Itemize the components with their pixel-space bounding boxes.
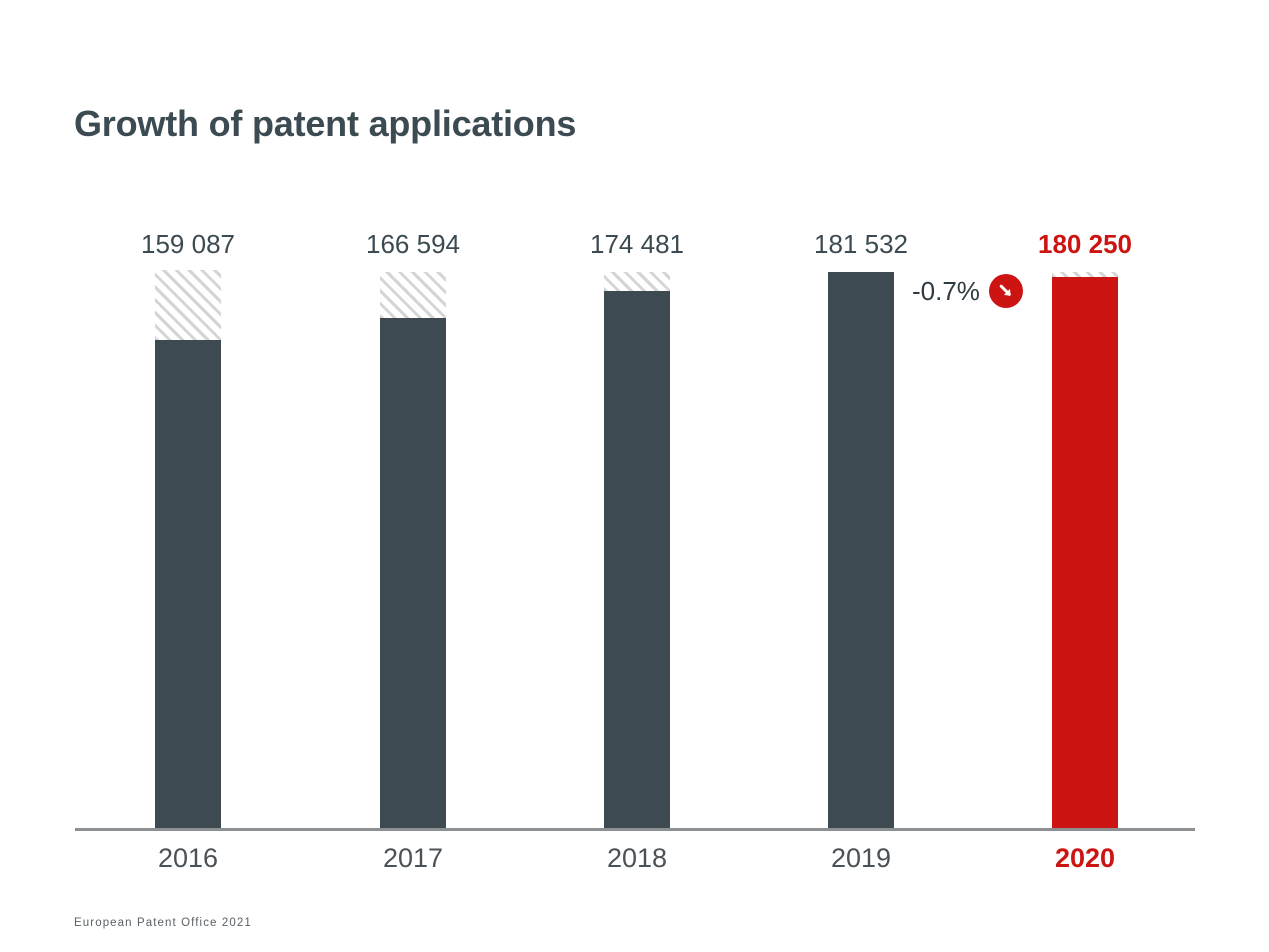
x-axis-label-2020: 2020: [975, 843, 1195, 874]
change-annotation: -0.7%: [912, 274, 1023, 308]
bar-group-2017[interactable]: [380, 0, 446, 952]
bar-solid-2016[interactable]: [155, 340, 221, 829]
bar-hatch-2018: [604, 272, 670, 291]
bar-value-label-2019: 181 532: [751, 229, 971, 260]
bar-chart-plot-area: 159 087 2016 166 594 2017 174 481 2018 1…: [0, 0, 1269, 952]
arrow-down-right-icon: [989, 274, 1023, 308]
bar-group-2016[interactable]: [155, 0, 221, 952]
bar-group-2020[interactable]: [1052, 0, 1118, 952]
bar-solid-2020[interactable]: [1052, 277, 1118, 829]
x-axis-line: [75, 828, 1195, 831]
bar-solid-2018[interactable]: [604, 291, 670, 829]
bar-solid-2017[interactable]: [380, 318, 446, 829]
bar-value-label-2016: 159 087: [78, 229, 298, 260]
x-axis-label-2019: 2019: [751, 843, 971, 874]
bar-group-2018[interactable]: [604, 0, 670, 952]
bar-value-label-2018: 174 481: [527, 229, 747, 260]
bar-hatch-2016: [155, 270, 221, 340]
change-percentage-label: -0.7%: [912, 276, 980, 307]
bar-hatch-2017: [380, 272, 446, 318]
bar-value-label-2017: 166 594: [303, 229, 523, 260]
x-axis-label-2016: 2016: [78, 843, 298, 874]
bar-group-2019[interactable]: [828, 0, 894, 952]
footer-source-note: European Patent Office 2021: [74, 917, 252, 929]
slide-canvas: Growth of patent applications 159 087 20…: [0, 0, 1269, 952]
x-axis-label-2017: 2017: [303, 843, 523, 874]
bar-value-label-2020: 180 250: [975, 229, 1195, 260]
bar-solid-2019[interactable]: [828, 272, 894, 829]
x-axis-label-2018: 2018: [527, 843, 747, 874]
